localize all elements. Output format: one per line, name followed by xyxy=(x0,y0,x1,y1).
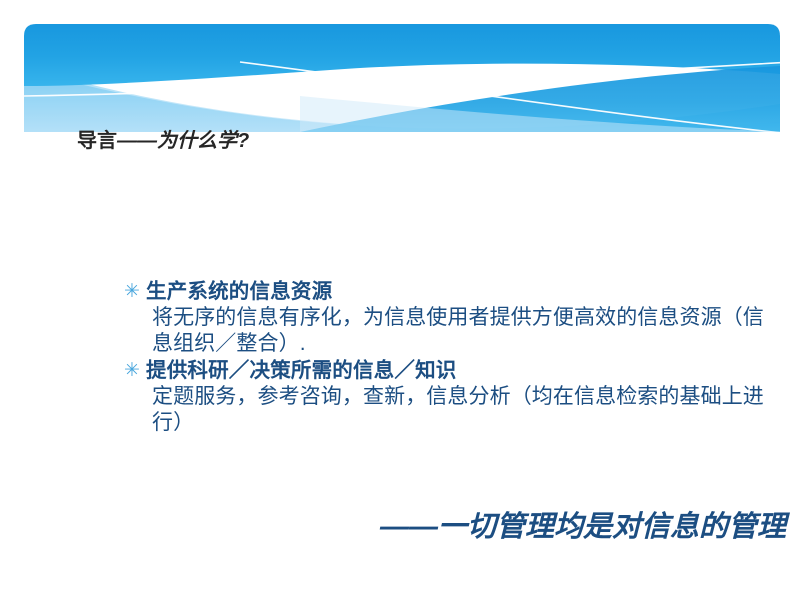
asterisk-bullet-icon: ✳ xyxy=(124,278,146,305)
asterisk-bullet-icon: ✳ xyxy=(124,357,146,384)
list-item-detail: 将无序的信息有序化，为信息使用者提供方便高效的信息资源（信息组织／整合）. xyxy=(146,305,784,357)
slide-title-subtitle: ——为什么学? xyxy=(117,130,249,152)
list-item-body: 提供科研／决策所需的信息／知识 定题服务，参考咨询，查新，信息分析（均在信息检索… xyxy=(146,357,784,436)
list-item-body: 生产系统的信息资源 将无序的信息有序化，为信息使用者提供方便高效的信息资源（信息… xyxy=(146,278,784,357)
closing-statement: ——一切管理均是对信息的管理 xyxy=(0,505,786,549)
wave-main-layer xyxy=(24,20,780,86)
slide-canvas: 导言——为什么学? ✳ 生产系统的信息资源 将无序的信息有序化，为信息使用者提供… xyxy=(0,0,800,600)
slide-title: 导言——为什么学? xyxy=(77,126,717,162)
wave-right-wedge xyxy=(300,66,780,132)
wave-stroke-b xyxy=(240,62,792,134)
content-bullet-list: ✳ 生产系统的信息资源 将无序的信息有序化，为信息使用者提供方便高效的信息资源（… xyxy=(124,278,784,436)
list-item: ✳ 提供科研／决策所需的信息／知识 定题服务，参考咨询，查新，信息分析（均在信息… xyxy=(124,357,784,436)
list-item-detail: 定题服务，参考咨询，查新，信息分析（均在信息检索的基础上进行） xyxy=(146,384,784,436)
list-item-heading: 提供科研／决策所需的信息／知识 xyxy=(146,357,784,384)
list-item-heading: 生产系统的信息资源 xyxy=(146,278,784,305)
slide-title-main: 导言 xyxy=(77,130,117,152)
list-item: ✳ 生产系统的信息资源 将无序的信息有序化，为信息使用者提供方便高效的信息资源（… xyxy=(124,278,784,357)
wave-stroke-a xyxy=(24,62,792,96)
